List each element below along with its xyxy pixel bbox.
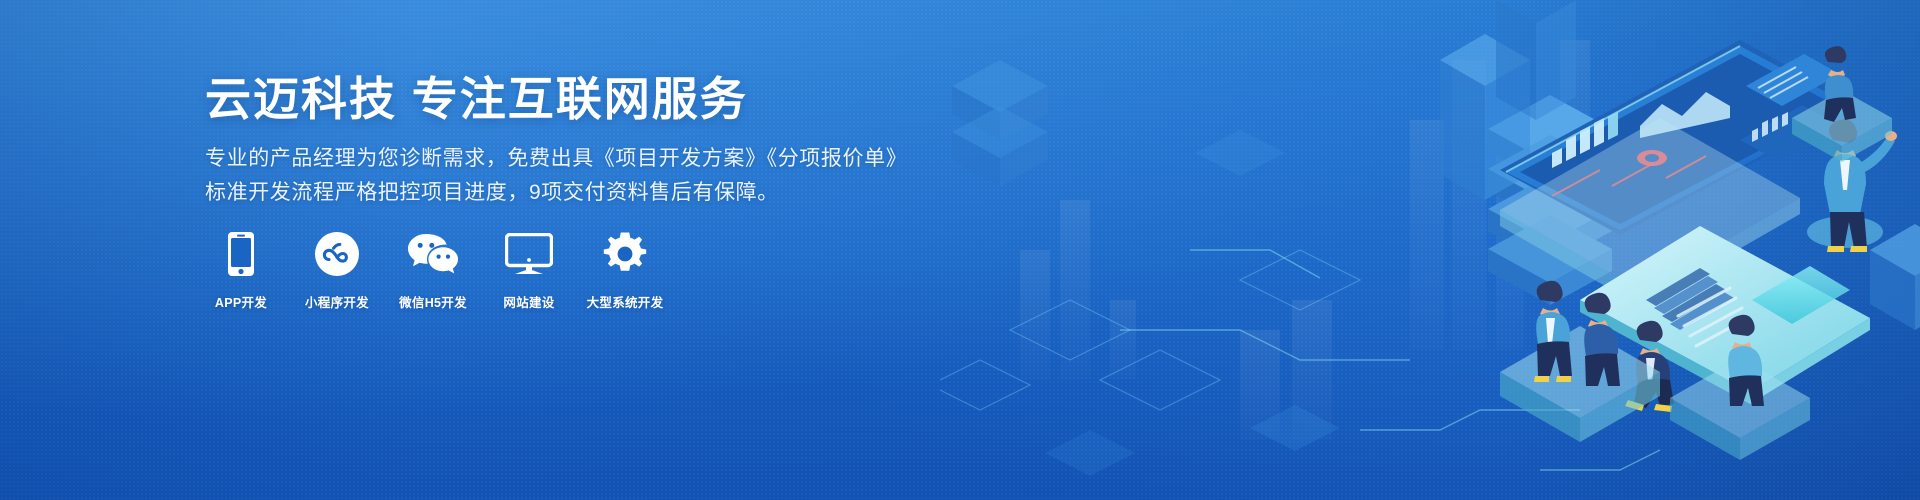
- service-item-miniprogram[interactable]: 小程序开发: [301, 230, 373, 311]
- hero-banner: 云迈科技 专注互联网服务 专业的产品经理为您诊断需求，免费出具《项目开发方案》《…: [0, 0, 1920, 500]
- mobile-phone-icon: [227, 230, 255, 278]
- service-label-website: 网站建设: [503, 292, 554, 311]
- service-label-app: APP开发: [215, 292, 267, 311]
- mini-program-icon: [314, 230, 360, 278]
- subtitle-line-2: 标准开发流程严格把控项目进度，9项交付资料售后有保障。: [205, 176, 779, 210]
- server-stack: [952, 60, 1048, 186]
- isometric-tech-dashboard-illustration: [940, 0, 1920, 500]
- service-item-app[interactable]: APP开发: [205, 230, 277, 311]
- wechat-icon: [407, 230, 459, 278]
- standing-person-small: [1824, 46, 1856, 122]
- service-label-miniprogram: 小程序开发: [305, 292, 369, 311]
- monitor-icon: [505, 230, 553, 278]
- banner-copy: 云迈科技 专注互联网服务 专业的产品经理为您诊断需求，免费出具《项目开发方案》《…: [205, 0, 965, 500]
- service-item-system[interactable]: 大型系统开发: [589, 230, 661, 311]
- service-label-wechat: 微信H5开发: [399, 292, 467, 311]
- subtitle-line-1: 专业的产品经理为您诊断需求，免费出具《项目开发方案》《分项报价单》: [205, 142, 907, 176]
- service-item-website[interactable]: 网站建设: [493, 230, 565, 311]
- page-title: 云迈科技 专注互联网服务: [205, 72, 748, 126]
- gear-icon: [602, 230, 648, 278]
- service-icon-row: APP开发 小程序开发: [205, 230, 661, 311]
- service-item-wechat[interactable]: 微信H5开发: [397, 230, 469, 311]
- service-label-system: 大型系统开发: [587, 292, 664, 311]
